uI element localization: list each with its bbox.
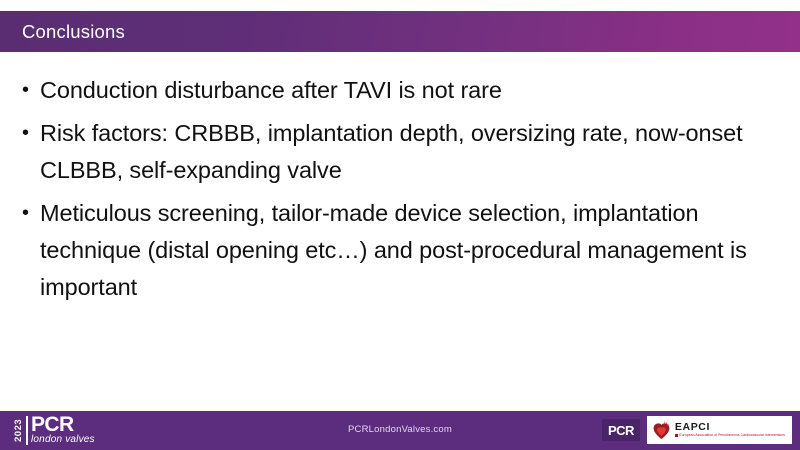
pcr-logo: PCR — [602, 419, 640, 441]
slide-title-bar: Conclusions — [0, 11, 800, 52]
eapci-subtitle: European Association of Percutaneous Car… — [679, 433, 785, 438]
bullet-item: • Risk factors: CRBBB, implantation dept… — [0, 115, 800, 195]
bullet-marker-icon: • — [22, 195, 40, 232]
slide: Conclusions • Conduction disturbance aft… — [0, 0, 800, 450]
bullet-text: Risk factors: CRBBB, implantation depth,… — [40, 115, 766, 189]
page-title: Conclusions — [0, 21, 125, 43]
footer-logos: PCR EAPCI European Association of Percut… — [602, 416, 792, 444]
bullet-marker-icon: • — [22, 115, 40, 152]
eapci-square-icon — [675, 434, 678, 437]
eapci-logo: EAPCI European Association of Percutaneo… — [647, 416, 792, 444]
logo-subtitle: london valves — [31, 434, 95, 446]
eapci-subtitle-row: European Association of Percutaneous Car… — [675, 433, 785, 438]
bullet-item: • Conduction disturbance after TAVI is n… — [0, 72, 800, 115]
slide-footer: 2023 PCR london valves PCRLondonValves.c… — [0, 411, 800, 450]
bullet-text: Conduction disturbance after TAVI is not… — [40, 72, 766, 109]
slide-body: • Conduction disturbance after TAVI is n… — [0, 72, 800, 312]
bullet-item: • Meticulous screening, tailor-made devi… — [0, 195, 800, 312]
bullet-text: Meticulous screening, tailor-made device… — [40, 195, 766, 306]
heart-icon — [652, 421, 671, 440]
eapci-name: EAPCI — [675, 422, 785, 433]
bullet-marker-icon: • — [22, 72, 40, 109]
